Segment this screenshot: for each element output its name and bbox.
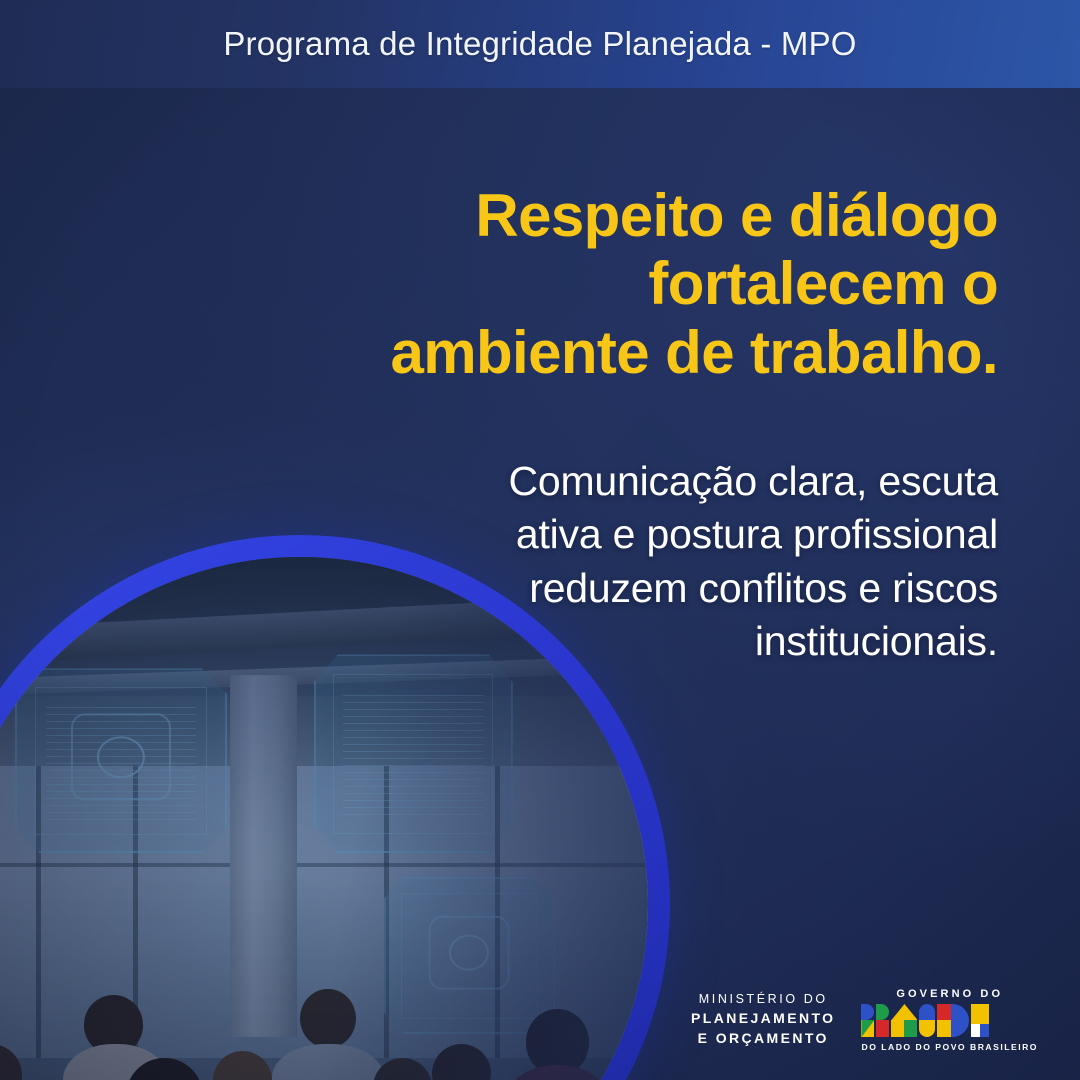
ministry-logo: MINISTÉRIO DO PLANEJAMENTO E ORÇAMENTO	[691, 991, 835, 1049]
header-band: Programa de Integridade Planejada - MPO	[0, 0, 1080, 88]
ministry-logo-line1: MINISTÉRIO DO	[691, 991, 835, 1009]
government-logo-tagline: DO LADO DO POVO BRASILEIRO	[861, 1042, 1038, 1052]
page-title: Programa de Integridade Planejada - MPO	[223, 25, 856, 63]
brasil-wordmark-icon	[861, 1004, 989, 1037]
subheadline-text: Comunicação clara, escuta ativa e postur…	[438, 455, 998, 668]
ministry-logo-line3: E ORÇAMENTO	[691, 1029, 835, 1049]
government-logo: GOVERNO DO DO LADO DO POVO BRASILEIRO	[861, 988, 1038, 1052]
headline-text: Respeito e diálogo fortalecem o ambiente…	[388, 182, 998, 387]
ministry-logo-line2: PLANEJAMENTO	[691, 1009, 835, 1029]
social-post-canvas: Programa de Integridade Planejada - MPO …	[0, 0, 1080, 1080]
government-logo-top: GOVERNO DO	[861, 988, 1038, 1000]
footer-logos: MINISTÉRIO DO PLANEJAMENTO E ORÇAMENTO G…	[691, 988, 1038, 1052]
